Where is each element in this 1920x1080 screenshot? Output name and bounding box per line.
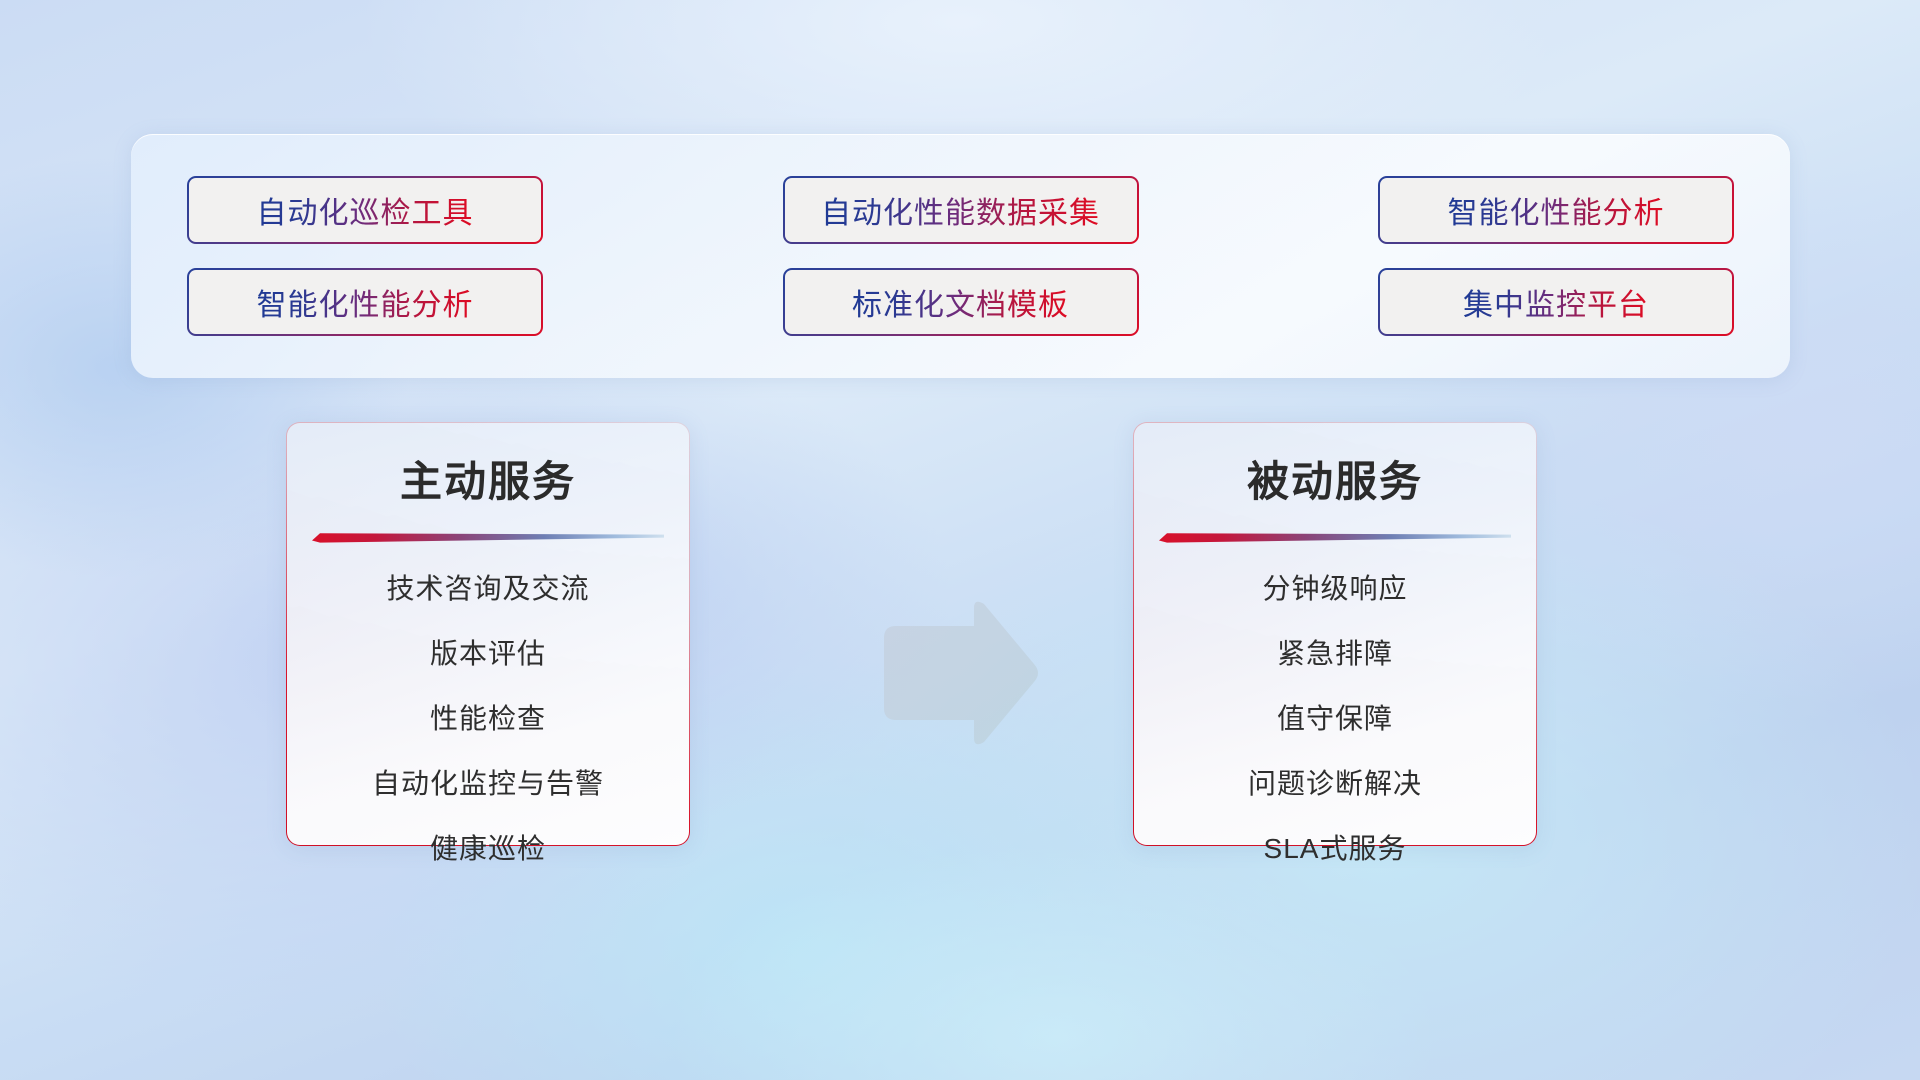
- list-item: 问题诊断解决: [1248, 762, 1422, 802]
- capability-pill-label: 智能化性能分析: [1448, 188, 1665, 232]
- card-divider: [1159, 529, 1511, 543]
- card-item-list: 技术咨询及交流 版本评估 性能检查 自动化监控与告警 健康巡检: [287, 553, 689, 867]
- capability-pill-1-3[interactable]: 智能化性能分析: [1378, 176, 1734, 244]
- list-item: 技术咨询及交流: [386, 567, 589, 607]
- capability-pill-2-2[interactable]: 标准化文档模板: [783, 268, 1139, 336]
- capability-pill-2-1[interactable]: 智能化性能分析: [187, 268, 543, 336]
- capability-pill-1-2[interactable]: 自动化性能数据采集: [783, 176, 1139, 244]
- capability-pill-label: 智能化性能分析: [257, 280, 474, 324]
- list-item: 健康巡检: [430, 827, 546, 867]
- service-card-reactive: 被动服务 分钟级响应 紧急排障 值守保障 问题诊断解决 SLA式服务: [1133, 422, 1537, 846]
- capability-row-1: 自动化巡检工具 自动化性能数据采集 智能化性能分析: [187, 176, 1734, 244]
- capability-pill-label: 自动化性能数据采集: [821, 188, 1100, 232]
- capability-row-2: 智能化性能分析 标准化文档模板 集中监控平台: [187, 268, 1734, 336]
- card-divider: [312, 529, 664, 543]
- list-item: 自动化监控与告警: [372, 762, 604, 802]
- list-item: 值守保障: [1277, 697, 1393, 737]
- capability-pill-label: 自动化巡检工具: [257, 188, 474, 232]
- capability-panel: 自动化巡检工具 自动化性能数据采集 智能化性能分析 智能化性能分析 标准化文档模…: [131, 134, 1790, 378]
- list-item: SLA式服务: [1264, 827, 1407, 867]
- list-item: 性能检查: [430, 697, 546, 737]
- card-title: 被动服务: [1247, 459, 1423, 505]
- arrow-right-icon: [876, 598, 1040, 748]
- card-item-list: 分钟级响应 紧急排障 值守保障 问题诊断解决 SLA式服务: [1134, 553, 1536, 867]
- list-item: 分钟级响应: [1262, 567, 1407, 607]
- service-card-proactive: 主动服务 技术咨询及交流 版本评估 性能检查 自动化监控与告警 健康巡检: [286, 422, 690, 846]
- list-item: 紧急排障: [1277, 632, 1393, 672]
- capability-pill-label: 集中监控平台: [1463, 280, 1649, 324]
- list-item: 版本评估: [430, 632, 546, 672]
- capability-pill-2-3[interactable]: 集中监控平台: [1378, 268, 1734, 336]
- card-title: 主动服务: [400, 459, 576, 505]
- capability-pill-label: 标准化文档模板: [852, 280, 1069, 324]
- capability-pill-1-1[interactable]: 自动化巡检工具: [187, 176, 543, 244]
